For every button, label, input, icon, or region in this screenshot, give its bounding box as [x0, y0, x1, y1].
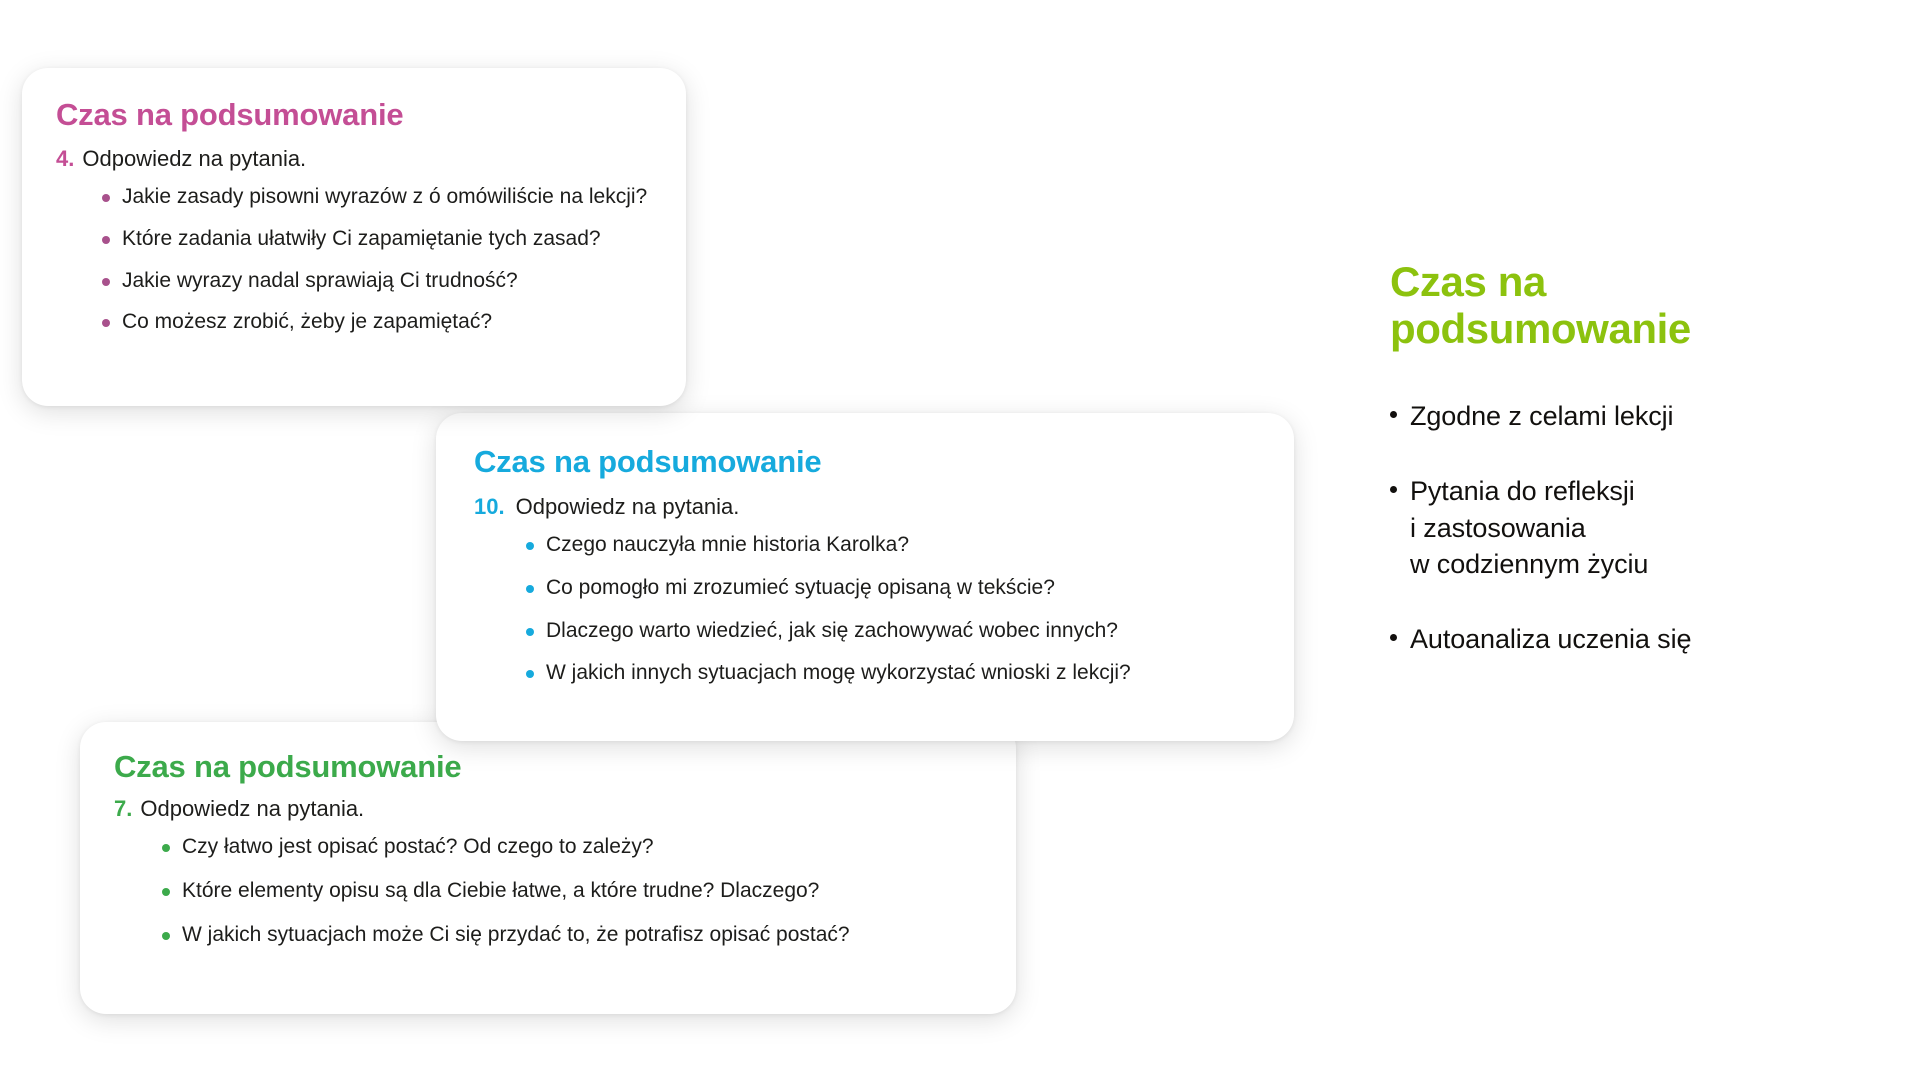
card-lead: 10. Odpowiedz na pytania.	[474, 492, 1256, 522]
list-item: Dlaczego warto wiedzieć, jak się zachowy…	[526, 618, 1256, 645]
card-task-number: 4.	[56, 144, 74, 174]
list-item-text: Pytania do refleksji i zastosowania w co…	[1410, 476, 1648, 579]
list-item-text: Jakie wyrazy nadal sprawiają Ci trudność…	[122, 269, 518, 292]
list-item-text: W jakich innych sytuacjach mogę wykorzys…	[546, 661, 1131, 684]
card-task-number: 7.	[114, 794, 132, 824]
bullet-dot-icon	[102, 278, 110, 286]
card-lead-text: Odpowiedz na pytania.	[82, 144, 306, 174]
list-item-text: Co możesz zrobić, żeby je zapamiętać?	[122, 310, 492, 333]
card-title: Czas na podsumowanie	[474, 445, 1256, 479]
card-question-list: Czego nauczyła mnie historia Karolka? Co…	[474, 532, 1256, 688]
list-item: Pytania do refleksji i zastosowania w co…	[1390, 473, 1860, 583]
card-lead: 4. Odpowiedz na pytania.	[56, 144, 652, 174]
card-lead-text: Odpowiedz na pytania.	[516, 492, 740, 522]
slide-canvas: Czas na podsumowanie 4. Odpowiedz na pyt…	[0, 0, 1920, 1080]
bullet-dot-icon	[526, 670, 534, 678]
list-item: Czy łatwo jest opisać postać? Od czego t…	[162, 834, 982, 861]
list-item-text: Co pomogło mi zrozumieć sytuację opisaną…	[546, 576, 1055, 599]
summary-card-cyan: Czas na podsumowanie 10. Odpowiedz na py…	[436, 413, 1294, 741]
list-item-text: W jakich sytuacjach może Ci się przydać …	[182, 923, 850, 946]
bullet-dot-icon	[1390, 486, 1397, 493]
list-item: W jakich innych sytuacjach mogę wykorzys…	[526, 660, 1256, 687]
card-lead-text: Odpowiedz na pytania.	[140, 794, 364, 824]
bullet-dot-icon	[526, 585, 534, 593]
list-item-text: Dlaczego warto wiedzieć, jak się zachowy…	[546, 619, 1118, 642]
bullet-dot-icon	[1390, 634, 1397, 641]
summary-title: Czas na podsumowanie	[1390, 258, 1860, 352]
list-item: Czego nauczyła mnie historia Karolka?	[526, 532, 1256, 559]
summary-feature-list: Zgodne z celami lekcji Pytania do reflek…	[1390, 398, 1860, 658]
bullet-dot-icon	[162, 932, 170, 940]
list-item-text: Jakie zasady pisowni wyrazów z ó omówili…	[122, 185, 647, 208]
card-title: Czas na podsumowanie	[114, 750, 982, 784]
list-item: Które elementy opisu są dla Ciebie łatwe…	[162, 878, 982, 905]
bullet-dot-icon	[102, 319, 110, 327]
list-item-text: Które elementy opisu są dla Ciebie łatwe…	[182, 879, 819, 902]
list-item: Jakie zasady pisowni wyrazów z ó omówili…	[102, 184, 652, 211]
list-item: Autoanaliza uczenia się	[1390, 621, 1860, 658]
list-item-text: Czego nauczyła mnie historia Karolka?	[546, 533, 909, 556]
list-item: W jakich sytuacjach może Ci się przydać …	[162, 922, 982, 949]
bullet-dot-icon	[102, 236, 110, 244]
list-item-text: Czy łatwo jest opisać postać? Od czego t…	[182, 835, 654, 858]
summary-card-green: Czas na podsumowanie 7. Odpowiedz na pyt…	[80, 722, 1016, 1014]
list-item-text: Autoanaliza uczenia się	[1410, 624, 1691, 654]
bullet-dot-icon	[526, 628, 534, 636]
list-item: Jakie wyrazy nadal sprawiają Ci trudność…	[102, 268, 652, 295]
list-item: Zgodne z celami lekcji	[1390, 398, 1860, 435]
bullet-dot-icon	[1390, 411, 1397, 418]
card-question-list: Czy łatwo jest opisać postać? Od czego t…	[114, 834, 982, 949]
list-item-text: Które zadania ułatwiły Ci zapamiętanie t…	[122, 227, 601, 250]
card-title: Czas na podsumowanie	[56, 98, 652, 132]
summary-card-pink: Czas na podsumowanie 4. Odpowiedz na pyt…	[22, 68, 686, 406]
bullet-dot-icon	[162, 844, 170, 852]
bullet-dot-icon	[526, 542, 534, 550]
list-item-text: Zgodne z celami lekcji	[1410, 401, 1673, 431]
summary-panel: Czas na podsumowanie Zgodne z celami lek…	[1390, 258, 1860, 658]
bullet-dot-icon	[102, 194, 110, 202]
card-task-number: 10.	[474, 492, 505, 522]
card-question-list: Jakie zasady pisowni wyrazów z ó omówili…	[56, 184, 652, 337]
list-item: Co pomogło mi zrozumieć sytuację opisaną…	[526, 575, 1256, 602]
card-lead: 7. Odpowiedz na pytania.	[114, 794, 982, 824]
list-item: Co możesz zrobić, żeby je zapamiętać?	[102, 309, 652, 336]
list-item: Które zadania ułatwiły Ci zapamiętanie t…	[102, 226, 652, 253]
bullet-dot-icon	[162, 888, 170, 896]
